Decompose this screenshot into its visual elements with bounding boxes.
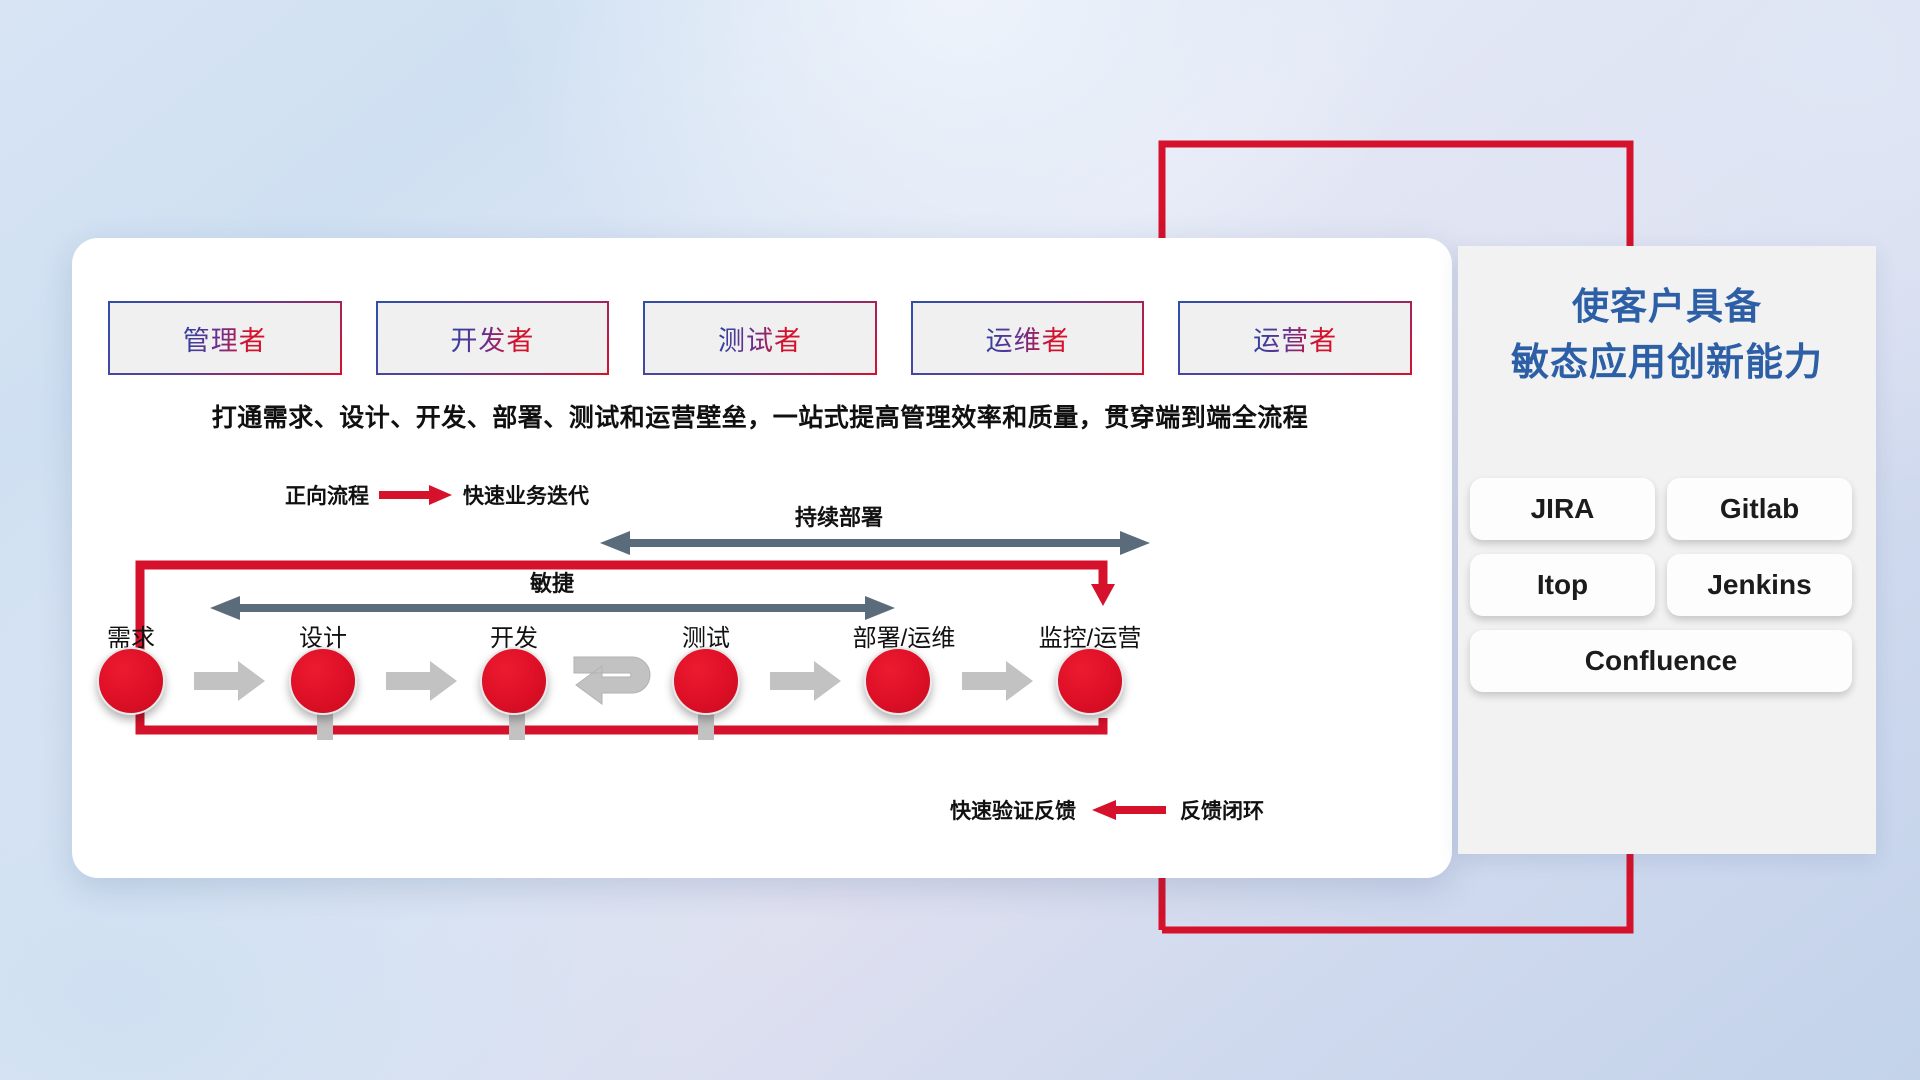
block-arrow-right-icon — [770, 660, 842, 702]
pipeline-node-dot-design[interactable] — [289, 647, 357, 715]
role-box-operations[interactable]: 运营者 — [1180, 303, 1410, 373]
block-arrow-right-icon — [962, 660, 1034, 702]
role-box-tester[interactable]: 测试者 — [645, 303, 875, 373]
annotation-forward-flow: 正向流程 快速业务迭代 — [285, 480, 589, 510]
annotation-feedback-right-label: 反馈闭环 — [1180, 795, 1264, 825]
annotation-feedback-left-label: 快速验证反馈 — [950, 795, 1076, 825]
slide-canvas: 管理者 开发者 测试者 运维者 运营者 打通需求、设计、开发、部署、测试和运营壁… — [0, 0, 1920, 1080]
tool-chip-jenkins[interactable]: Jenkins — [1667, 554, 1852, 616]
tools-panel-title: 使客户具备 敏态应用创新能力 — [1458, 280, 1876, 391]
role-label: 管理者 — [183, 319, 267, 358]
tools-panel: 使客户具备 敏态应用创新能力 JIRA Gitlab Itop Jenkins … — [1458, 246, 1876, 854]
tool-chip-itop[interactable]: Itop — [1470, 554, 1655, 616]
loop-back-arrow-icon — [568, 648, 666, 716]
tool-chip-confluence[interactable]: Confluence — [1470, 630, 1852, 692]
annotation-forward-right-label: 快速业务迭代 — [463, 480, 589, 510]
tools-panel-title-line2: 敏态应用创新能力 — [1458, 335, 1876, 391]
block-arrow-right-icon — [386, 660, 458, 702]
role-label: 运维者 — [986, 319, 1070, 358]
pipeline-node-dot-requirements[interactable] — [97, 647, 165, 715]
annotation-forward-left-label: 正向流程 — [285, 480, 369, 510]
left-arrow-icon — [1090, 799, 1166, 821]
continuous-deployment-label: 持续部署 — [795, 500, 883, 532]
role-box-manager[interactable]: 管理者 — [110, 303, 340, 373]
tools-chip-list: JIRA Gitlab Itop Jenkins Confluence — [1470, 478, 1864, 692]
role-label: 开发者 — [450, 319, 534, 358]
block-arrow-right-icon — [194, 660, 266, 702]
card-subtitle: 打通需求、设计、开发、部署、测试和运营壁垒，一站式提高管理效率和质量，贯穿端到端… — [110, 398, 1410, 434]
role-boxes-row: 管理者 开发者 测试者 运维者 运营者 — [110, 303, 1410, 373]
role-label: 运营者 — [1253, 319, 1337, 358]
annotation-feedback-loop: 快速验证反馈 反馈闭环 — [950, 795, 1264, 825]
right-arrow-icon — [379, 484, 453, 506]
pipeline-node-dot-deploy-ops[interactable] — [864, 647, 932, 715]
pipeline-node-dot-test[interactable] — [672, 647, 740, 715]
role-label: 测试者 — [718, 319, 802, 358]
role-box-ops-engineer[interactable]: 运维者 — [913, 303, 1143, 373]
tool-chip-gitlab[interactable]: Gitlab — [1667, 478, 1852, 540]
tools-panel-title-line1: 使客户具备 — [1458, 280, 1876, 335]
pipeline-node-dot-monitor-operations[interactable] — [1056, 647, 1124, 715]
pipeline-node-dot-development[interactable] — [480, 647, 548, 715]
role-box-developer[interactable]: 开发者 — [378, 303, 608, 373]
tool-chip-jira[interactable]: JIRA — [1470, 478, 1655, 540]
